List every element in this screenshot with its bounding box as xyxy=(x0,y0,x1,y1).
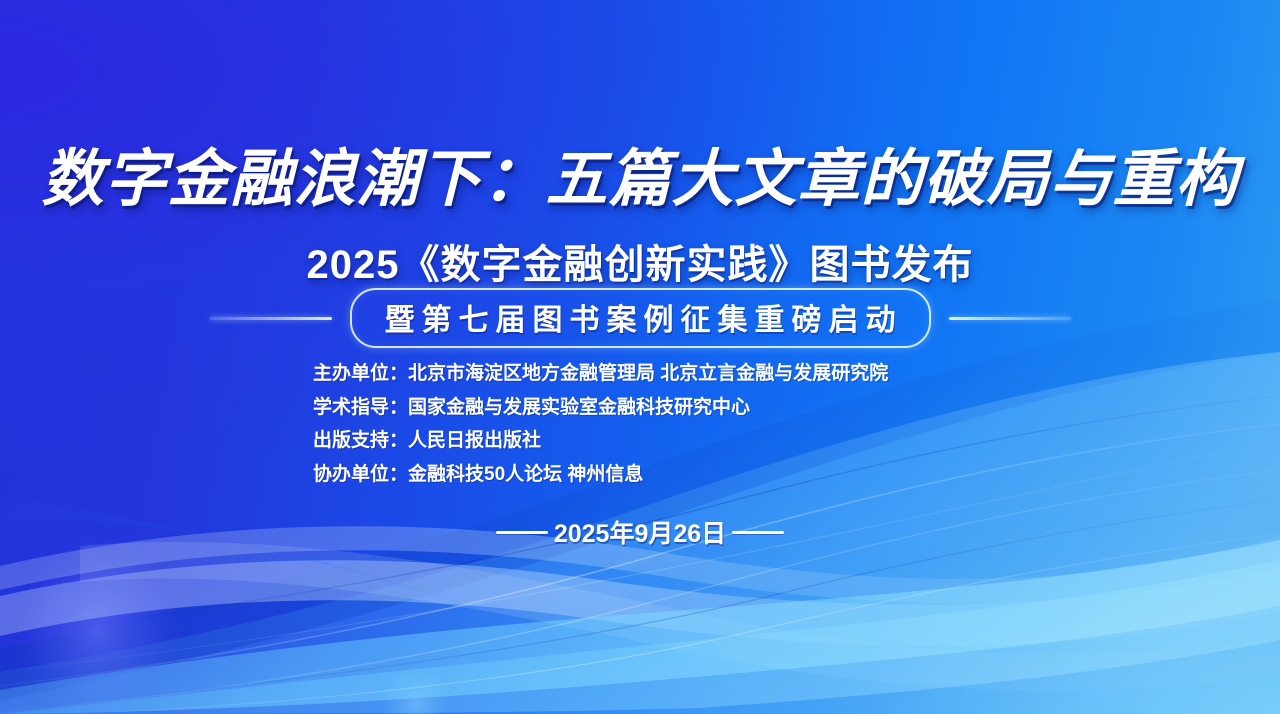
divider-line-right xyxy=(949,317,1071,320)
event-banner: 数字金融浪潮下：五篇大文章的破局与重构 2025《数字金融创新实践》图书发布 暨… xyxy=(0,0,1280,714)
divider-line-left xyxy=(210,317,332,320)
date-dash-right xyxy=(732,531,784,534)
page-title: 数字金融浪潮下：五篇大文章的破局与重构 xyxy=(0,146,1280,211)
highlight-pill-row: 暨第七届图书案例征集重磅启动 xyxy=(0,288,1280,348)
credit-line-academic-advisor: 学术指导：国家金融与发展实验室金融科技研究中心 xyxy=(313,394,888,422)
date-dash-left xyxy=(496,531,548,534)
credit-line-publishing-support: 出版支持：人民日报出版社 xyxy=(313,427,888,455)
event-date-row: 2025年9月26日 xyxy=(0,514,1280,550)
credit-line-co-organizer: 协办单位：金融科技50人论坛 神州信息 xyxy=(313,461,888,489)
highlight-pill: 暨第七届图书案例征集重磅启动 xyxy=(350,288,931,348)
event-date: 2025年9月26日 xyxy=(552,514,728,550)
banner-content: 数字金融浪潮下：五篇大文章的破局与重构 2025《数字金融创新实践》图书发布 暨… xyxy=(0,0,1280,714)
banner-subtitle: 2025《数字金融创新实践》图书发布 xyxy=(0,242,1280,288)
credit-line-organizer: 主办单位：北京市海淀区地方金融管理局 北京立言金融与发展研究院 xyxy=(313,360,888,388)
credits-block: 主办单位：北京市海淀区地方金融管理局 北京立言金融与发展研究院 学术指导：国家金… xyxy=(313,360,888,488)
highlight-pill-label: 暨第七届图书案例征集重磅启动 xyxy=(378,295,903,339)
